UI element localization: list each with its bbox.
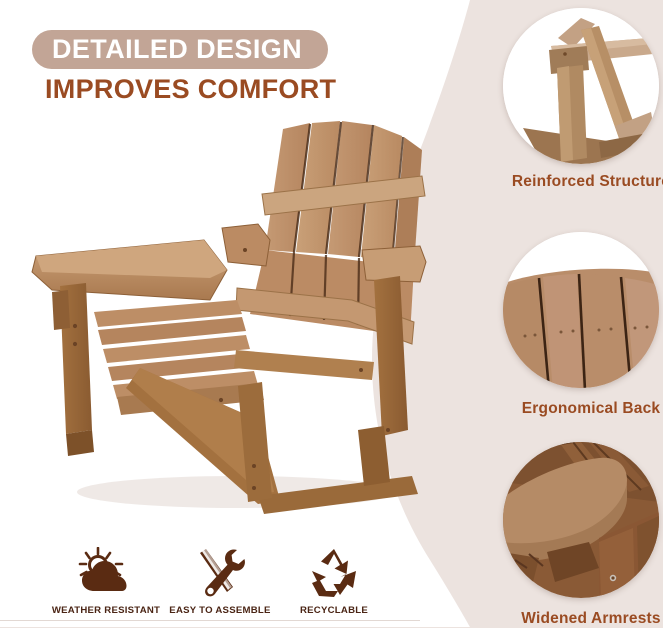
feature-label-1: EASY TO ASSEMBLE	[169, 605, 270, 616]
callout-image-2	[503, 442, 659, 598]
widened-armrests-closeup	[503, 442, 659, 598]
feature-list: WEATHER RESISTANT EASY TO ASSEMBLE	[50, 532, 390, 616]
callout-widened-armrests: Widened Armrests	[503, 442, 663, 628]
badge-label: DETAILED DESIGN	[52, 36, 302, 63]
page-subtitle: IMPROVES COMFORT	[45, 74, 336, 105]
callout-label-0: Reinforced Structure	[503, 173, 663, 191]
badge-detailed-design: DETAILED DESIGN	[32, 30, 328, 69]
callout-ergonomical-back: Ergonomical Back	[503, 232, 663, 418]
sun-cloud-icon	[78, 543, 134, 597]
feature-label-2: RECYCLABLE	[300, 605, 368, 616]
reinforced-structure-closeup	[503, 8, 659, 164]
recycle-icon	[308, 543, 360, 597]
callout-label-1: Ergonomical Back	[503, 400, 663, 418]
product-image-adirondack-chair	[22, 100, 452, 520]
ergonomical-back-closeup	[503, 232, 659, 388]
callout-image-0	[503, 8, 659, 164]
bottom-divider	[0, 620, 420, 621]
feature-label-0: WEATHER RESISTANT	[52, 605, 160, 616]
feature-recyclable: RECYCLABLE	[278, 543, 390, 616]
callout-label-2: Widened Armrests	[503, 610, 663, 628]
feature-weather-resistant: WEATHER RESISTANT	[50, 543, 162, 616]
infographic-root: DETAILED DESIGN IMPROVES COMFORT	[0, 0, 663, 627]
chair-illustration	[22, 100, 452, 520]
screwdriver-wrench-icon	[193, 543, 247, 597]
feature-easy-to-assemble: EASY TO ASSEMBLE	[164, 543, 276, 616]
callout-image-1	[503, 232, 659, 388]
callout-reinforced-structure: Reinforced Structure	[503, 8, 663, 191]
